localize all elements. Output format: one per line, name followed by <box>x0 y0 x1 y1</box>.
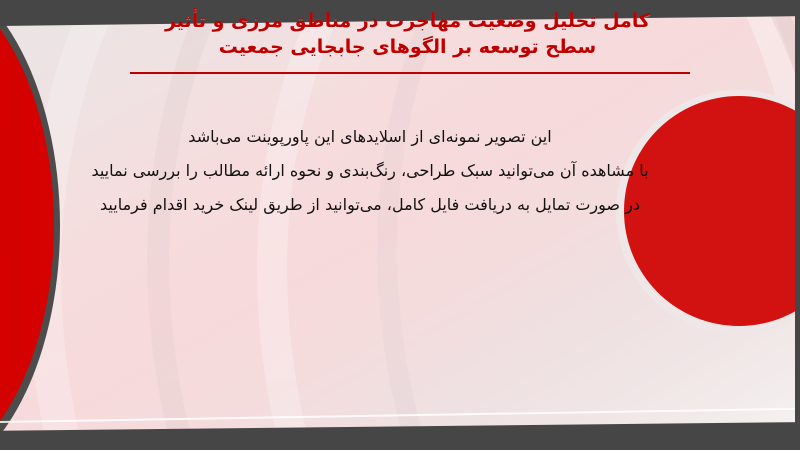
body-line-2: با مشاهده آن می‌توانید سبک طراحی، رنگ‌بن… <box>70 154 670 188</box>
slide-canvas: کامل تحلیل وضعیت مهاجرت در مناطق مرزی و … <box>0 0 800 450</box>
slide-title: کامل تحلیل وضعیت مهاجرت در مناطق مرزی و … <box>120 8 695 60</box>
slide-body: این تصویر نمونه‌ای از اسلایدهای این پاور… <box>70 120 670 222</box>
body-line-1: این تصویر نمونه‌ای از اسلایدهای این پاور… <box>70 120 670 154</box>
right-dark-edge <box>795 0 800 450</box>
left-red-lens-decoration <box>0 0 70 450</box>
title-underline-rule <box>130 72 690 74</box>
slide-title-line-2: سطح توسعه بر الگوهای جابجایی جمعیت <box>120 34 695 60</box>
body-line-3: در صورت تمایل به دریافت فایل کامل، می‌تو… <box>70 188 670 222</box>
slide-title-line-1: کامل تحلیل وضعیت مهاجرت در مناطق مرزی و … <box>120 8 695 34</box>
